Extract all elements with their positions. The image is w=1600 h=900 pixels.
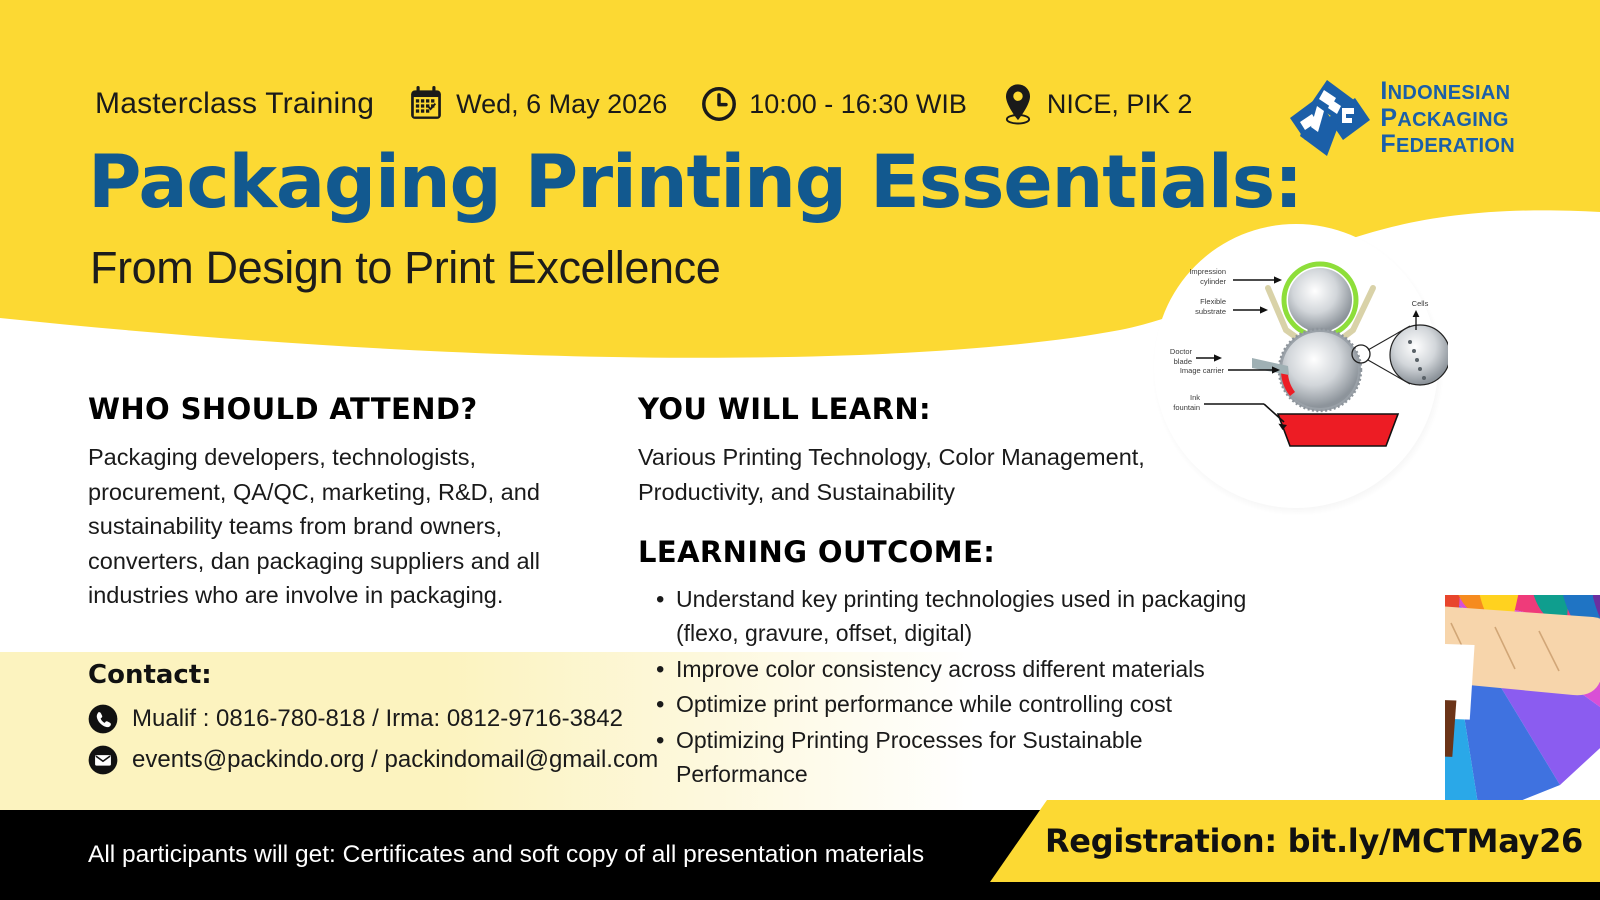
svg-text:blade: blade <box>1174 357 1192 366</box>
contact-phone-row: Mualif : 0816-780-818 / Irma: 0812-9716-… <box>88 704 658 734</box>
learning-outcome-heading: LEARNING OUTCOME: <box>638 535 1258 569</box>
who-should-attend-body: Packaging developers, technologists, pro… <box>88 440 618 613</box>
registration-banner[interactable]: Registration: bit.ly/MCTMay26 <box>990 800 1600 882</box>
event-venue-text: NICE, PIK 2 <box>1047 89 1193 120</box>
event-meta-row: Masterclass Training <box>95 82 1192 126</box>
organization-logo: INDONESIAN PACKAGING FEDERATION <box>1284 78 1515 158</box>
contact-section: Contact: Mualif : 0816-780-818 / Irma: 0… <box>88 660 658 786</box>
logo-line-1: INDONESIAN <box>1380 78 1515 105</box>
page-subtitle: From Design to Print Excellence <box>90 242 720 294</box>
calendar-icon <box>407 85 445 123</box>
contact-email-text: events@packindo.org / packindomail@gmail… <box>132 746 658 774</box>
poster-root: Impression cylinder Flexible substrate I… <box>0 0 1600 900</box>
learning-section: YOU WILL LEARN: Various Printing Technol… <box>638 392 1258 794</box>
ipf-cube-monogram-icon <box>1284 78 1370 158</box>
list-item: Optimizing Printing Processes for Sustai… <box>638 724 1258 792</box>
contact-phone-text: Mualif : 0816-780-818 / Irma: 0812-9716-… <box>132 705 623 733</box>
list-item: Optimize print performance while control… <box>638 688 1258 722</box>
clock-icon <box>700 85 738 123</box>
event-time: 10:00 - 16:30 WIB <box>700 85 967 123</box>
who-should-attend-section: WHO SHOULD ATTEND? Packaging developers,… <box>88 392 618 613</box>
list-item: Improve color consistency across differe… <box>638 653 1258 687</box>
envelope-icon <box>88 745 118 775</box>
logo-line-3: FEDERATION <box>1380 131 1515 158</box>
event-date: Wed, 6 May 2026 <box>407 85 667 123</box>
kicker-text: Masterclass Training <box>95 87 374 121</box>
learning-outcome-list: Understand key printing technologies use… <box>638 583 1258 792</box>
svg-text:Image carrier: Image carrier <box>1180 366 1225 375</box>
page-title: Packaging Printing Essentials: <box>88 140 1302 225</box>
you-will-learn-heading: YOU WILL LEARN: <box>638 392 1258 426</box>
who-should-attend-heading: WHO SHOULD ATTEND? <box>88 392 618 426</box>
organization-name: INDONESIAN PACKAGING FEDERATION <box>1380 78 1515 158</box>
event-venue: NICE, PIK 2 <box>1000 82 1193 126</box>
phone-icon <box>88 704 118 734</box>
event-time-text: 10:00 - 16:30 WIB <box>749 89 967 120</box>
logo-line-2: PACKAGING <box>1380 105 1515 132</box>
footer-note: All participants will get: Certificates … <box>88 841 924 869</box>
contact-email-row: events@packindo.org / packindomail@gmail… <box>88 745 658 775</box>
you-will-learn-body: Various Printing Technology, Color Manag… <box>638 440 1258 509</box>
event-date-text: Wed, 6 May 2026 <box>456 89 667 120</box>
hand-illustration <box>1382 605 1600 695</box>
location-pin-icon <box>1000 82 1036 126</box>
contact-heading: Contact: <box>88 660 658 690</box>
svg-text:Doctor: Doctor <box>1170 347 1193 356</box>
list-item: Understand key printing technologies use… <box>638 583 1258 651</box>
registration-link-text[interactable]: Registration: bit.ly/MCTMay26 <box>1007 822 1583 860</box>
